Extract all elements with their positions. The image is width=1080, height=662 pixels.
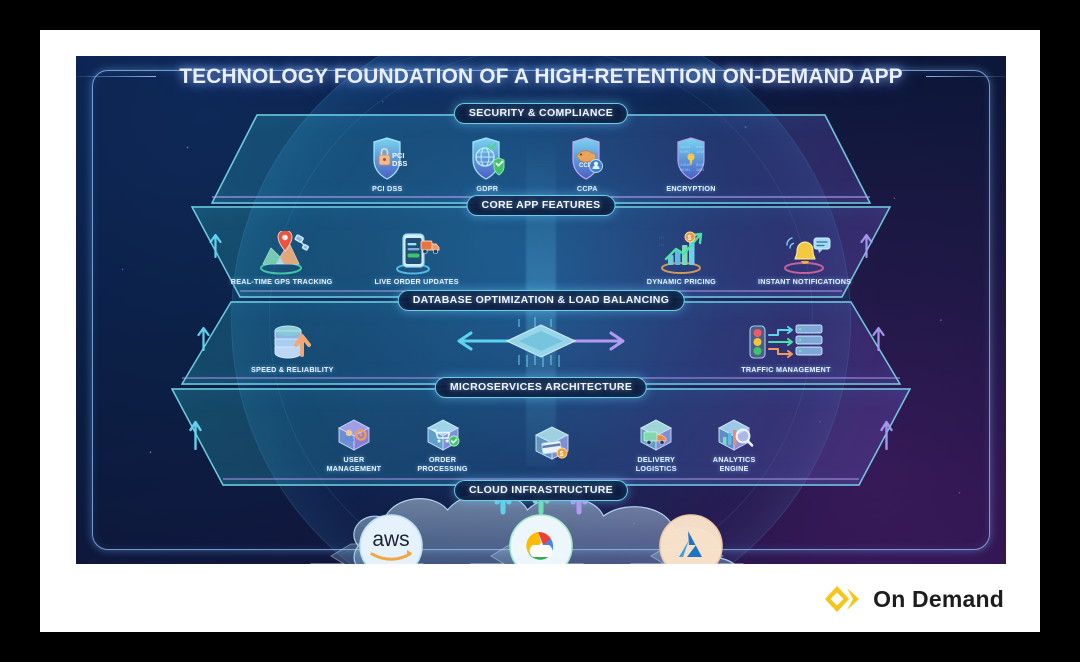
svg-text:DSS: DSS <box>392 159 407 168</box>
page-title: TECHNOLOGY FOUNDATION OF A HIGH-RETENTIO… <box>179 64 903 89</box>
brand-footer: On Demand <box>823 584 1004 614</box>
phone-delivery-truck-icon <box>392 231 442 275</box>
layer-security-items: PCI DSS PCI DSS <box>211 114 871 204</box>
svg-text:0110: 0110 <box>696 164 704 168</box>
layer-microservices-center: $ <box>504 422 600 468</box>
svg-text:1001: 1001 <box>696 169 704 173</box>
title-row: TECHNOLOGY FOUNDATION OF A HIGH-RETENTIO… <box>76 64 1006 89</box>
item-order-processing[interactable]: ORDER PROCESSING <box>417 417 467 473</box>
svg-text:1010: 1010 <box>696 151 704 155</box>
layer-security-label: SECURITY & COMPLIANCE <box>454 103 628 124</box>
bar-chart-dollar-arrow-icon: ↓↑↓↑↓↑ $ <box>654 231 708 275</box>
white-page-sheet: TECHNOLOGY FOUNDATION OF A HIGH-RETENTIO… <box>40 30 1040 632</box>
item-gdpr[interactable]: GDPR <box>466 136 508 193</box>
svg-text:0101: 0101 <box>696 146 704 150</box>
item-label: CCPA <box>577 185 598 193</box>
item-ccpa[interactable]: CCPA CCPA <box>566 136 608 193</box>
layer-microservices[interactable]: MICROSERVICES ARCHITECTURE <box>171 388 911 486</box>
layer-microservices-items: USER MANAGEMENT <box>171 388 911 486</box>
item-label: PCI DSS <box>372 185 403 193</box>
item-dynamic-pricing[interactable]: ↓↑↓↑↓↑ $ DYNAMIC PR <box>647 231 716 286</box>
item-speed-reliability[interactable]: SPEED & RELIABILITY <box>251 323 334 374</box>
svg-text:↑↓↑: ↑↓↑ <box>658 242 664 247</box>
shield-bear-icon: CCPA <box>566 136 608 182</box>
layer-database-optimization[interactable]: DATABASE OPTIMIZATION & LOAD BALANCING <box>181 301 901 385</box>
item-delivery-logistics[interactable]: DELIVERY LOGISTICS <box>636 417 677 473</box>
database-cylinder-arrow-icon <box>266 323 318 363</box>
title-rule-right <box>926 76 1006 77</box>
infographic-panel: TECHNOLOGY FOUNDATION OF A HIGH-RETENTIO… <box>76 56 1006 564</box>
layer-cloud-infrastructure[interactable]: CLOUD INFRASTRUCTURE <box>231 484 851 564</box>
map-pin-satellite-icon <box>254 231 310 275</box>
yellow-double-chevron-diamond-icon <box>823 584 863 614</box>
svg-text:$: $ <box>560 451 564 458</box>
item-label: GDPR <box>476 185 498 193</box>
layer-cloud-label: CLOUD INFRASTRUCTURE <box>454 480 628 501</box>
item-label: ORDER PROCESSING <box>417 456 467 473</box>
svg-text:10110: 10110 <box>680 146 690 150</box>
item-encryption[interactable]: 101100101 010011010 110100110 001011001 … <box>666 136 715 193</box>
cube-chart-magnifier-icon <box>714 417 754 453</box>
item-user-management[interactable]: USER MANAGEMENT <box>327 417 382 473</box>
shield-keyhole-binary-icon: 101100101 010011010 110100110 001011001 <box>670 136 712 182</box>
item-live-order-updates[interactable]: LIVE ORDER UPDATES <box>375 231 459 286</box>
item-label: DELIVERY LOGISTICS <box>636 456 677 473</box>
layer-core-label: CORE APP FEATURES <box>467 195 616 216</box>
title-rule-left <box>76 76 156 77</box>
svg-text:11010: 11010 <box>680 164 690 168</box>
svg-text:↓↑↓: ↓↑↓ <box>658 235 664 240</box>
item-pci-dss[interactable]: PCI DSS PCI DSS <box>366 136 408 193</box>
item-label: ENCRYPTION <box>666 185 715 193</box>
item-label: USER MANAGEMENT <box>327 456 382 473</box>
layer-core-app-features[interactable]: CORE APP FEATURES <box>191 206 891 298</box>
svg-text:00101: 00101 <box>680 169 690 173</box>
item-label: LIVE ORDER UPDATES <box>375 278 459 286</box>
layer-microservices-label: MICROSERVICES ARCHITECTURE <box>435 377 647 398</box>
layer-stack: SECURITY & COMPLIANCE <box>76 96 1006 558</box>
layer-database-items: SPEED & RELIABILITY <box>181 301 901 385</box>
bell-chat-icon <box>778 231 832 275</box>
cube-truck-icon <box>636 417 676 453</box>
layer-core-items: REAL-TIME GPS TRACKING <box>191 206 891 298</box>
item-label: REAL-TIME GPS TRACKING <box>231 278 333 286</box>
traffic-light-servers-icon <box>741 323 831 363</box>
item-real-time-gps-tracking[interactable]: REAL-TIME GPS TRACKING <box>231 231 333 286</box>
brand-name: On Demand <box>873 586 1004 613</box>
item-instant-notifications[interactable]: INSTANT NOTIFICATIONS <box>758 231 851 286</box>
item-label: DYNAMIC PRICING <box>647 278 716 286</box>
layer-security[interactable]: SECURITY & COMPLIANCE <box>211 114 871 204</box>
item-traffic-management[interactable]: TRAFFIC MANAGEMENT <box>741 323 831 374</box>
item-label: TRAFFIC MANAGEMENT <box>741 366 831 374</box>
item-analytics-engine[interactable]: ANALYTICS ENGINE <box>713 417 756 473</box>
layer-database-label: DATABASE OPTIMIZATION & LOAD BALANCING <box>398 290 685 311</box>
cube-user-gear-icon <box>334 417 374 453</box>
screenshot-root: TECHNOLOGY FOUNDATION OF A HIGH-RETENTIO… <box>0 0 1080 662</box>
cube-payment-card-icon: $ <box>526 422 578 468</box>
item-label: INSTANT NOTIFICATIONS <box>758 278 851 286</box>
cube-cart-check-icon <box>423 417 463 453</box>
shield-lock-icon: PCI DSS <box>366 136 408 182</box>
svg-text:aws: aws <box>372 528 409 551</box>
shield-globe-check-icon <box>466 136 508 182</box>
item-label: ANALYTICS ENGINE <box>713 456 756 473</box>
item-label: SPEED & RELIABILITY <box>251 366 334 374</box>
